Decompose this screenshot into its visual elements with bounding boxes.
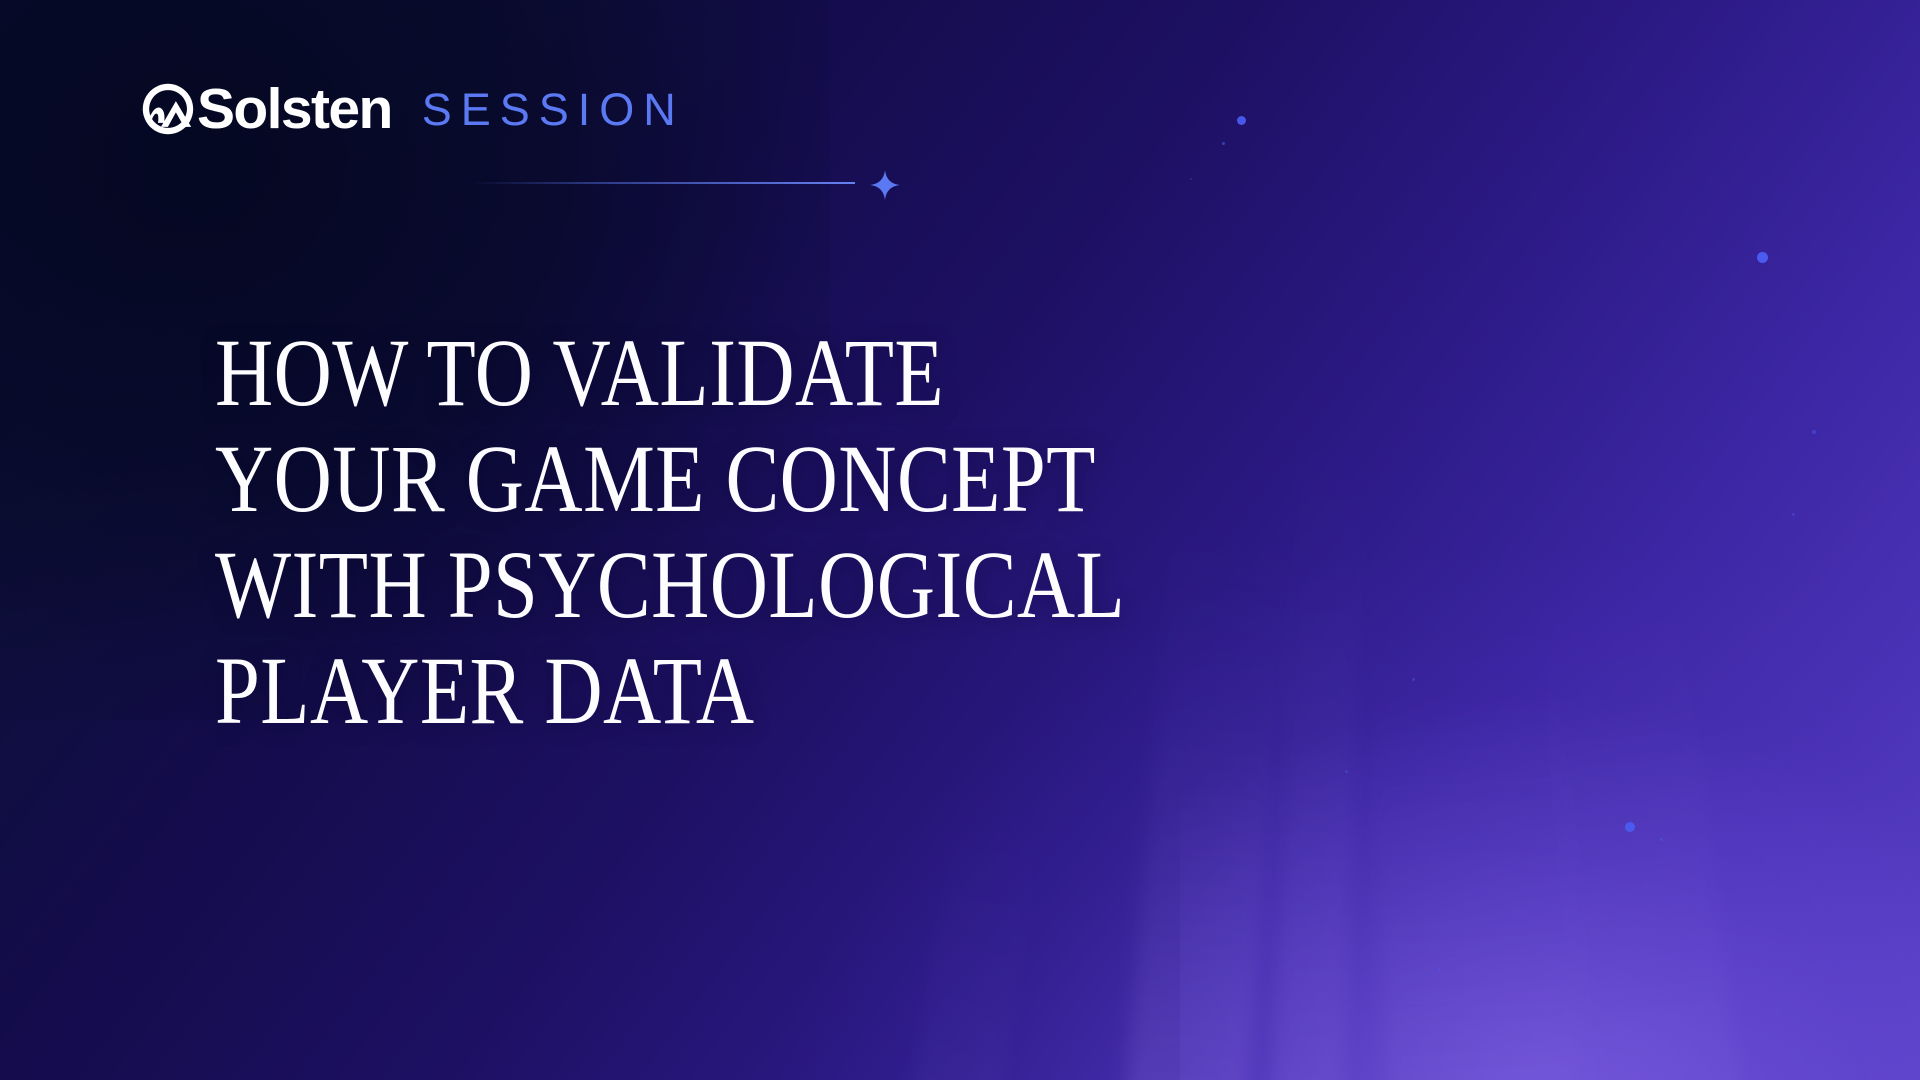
solsten-mountain-circle-icon [140, 81, 196, 137]
title-line: WITH PSYCHOLOGICAL [215, 532, 1307, 638]
sparkle-star-icon [870, 170, 900, 200]
particle-dot [1438, 968, 1441, 971]
particle-dot [1190, 178, 1192, 180]
particle-dot [1237, 116, 1246, 125]
particle-dot [1792, 513, 1795, 516]
background-highlight-bloom [1180, 700, 1920, 1080]
light-ray [1515, 456, 1749, 1080]
title-line: YOUR GAME CONCEPT [215, 426, 1307, 532]
title-line: HOW TO VALIDATE [215, 320, 1307, 426]
title-line: PLAYER DATA [215, 638, 1307, 744]
brand-lockup: Solsten SESSION [140, 78, 685, 140]
gradient-rule [470, 182, 855, 184]
particle-dot [1222, 142, 1225, 145]
particle-dot [1660, 838, 1663, 841]
light-ray [901, 728, 1057, 1080]
light-ray [1361, 596, 1590, 1080]
particle-dot [1412, 678, 1415, 681]
particle-dot [1345, 770, 1348, 773]
title-slide: Solsten SESSION HOW TO VALIDATE YOUR GAM… [0, 0, 1920, 1080]
page-title: HOW TO VALIDATE YOUR GAME CONCEPT WITH P… [215, 320, 1307, 744]
product-name: SESSION [422, 87, 685, 132]
brand-divider [470, 170, 920, 198]
brand-wordmark: Solsten [197, 81, 392, 138]
particle-dot [1625, 822, 1635, 832]
particle-dot [1757, 252, 1768, 263]
particle-dot [1812, 430, 1816, 434]
